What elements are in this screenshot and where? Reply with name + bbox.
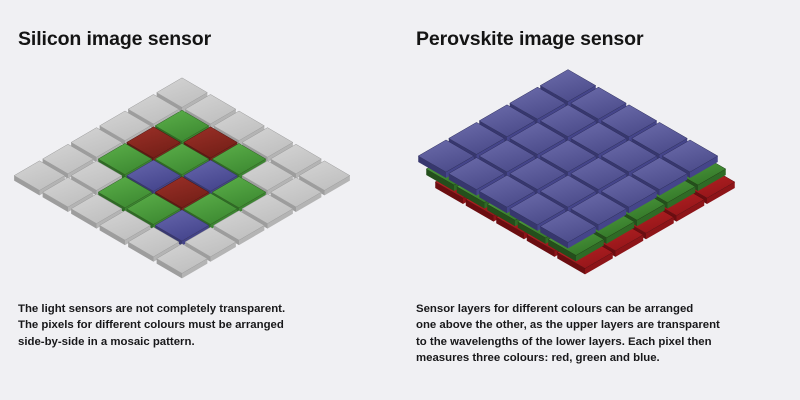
- caption-silicon: The light sensors are not completely tra…: [18, 301, 285, 350]
- panel-perovskite: Perovskite image sensor Sensor layers f: [400, 0, 800, 400]
- perovskite-stack-svg: [400, 62, 800, 297]
- perovskite-tile-group: [418, 70, 735, 275]
- panel-silicon: Silicon image sensor: [0, 0, 400, 400]
- silicon-sensor-diagram: [0, 62, 400, 297]
- page-title-perovskite: Perovskite image sensor: [416, 28, 643, 51]
- perovskite-sensor-diagram: [400, 62, 800, 297]
- silicon-grid-svg: [0, 62, 400, 297]
- page-title-silicon: Silicon image sensor: [18, 28, 211, 51]
- caption-perovskite: Sensor layers for different colours can …: [416, 301, 720, 367]
- silicon-tile-group: [14, 78, 350, 279]
